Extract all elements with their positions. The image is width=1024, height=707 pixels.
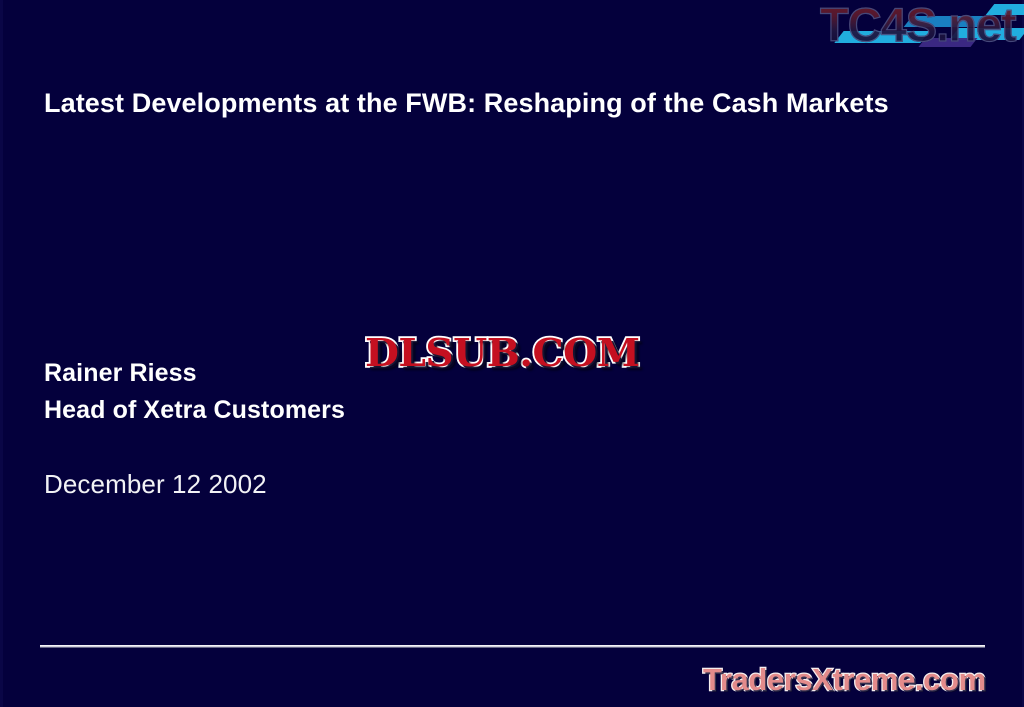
- watermark-tc4s-label: TC4S.net: [820, 0, 1016, 52]
- footer-divider: [40, 645, 985, 648]
- watermark-tradersxtreme: TradersXtreme.com: [703, 662, 986, 698]
- slide-date: December 12 2002: [44, 468, 267, 500]
- presentation-slide: Latest Developments at the FWB: Reshapin…: [0, 0, 1024, 707]
- watermark-tc4s: TC4S.net: [804, 0, 1020, 60]
- slide-title: Latest Developments at the FWB: Reshapin…: [44, 84, 944, 122]
- presenter-role: Head of Xetra Customers: [44, 392, 345, 429]
- watermark-dlsub: DLSUB.COM: [365, 330, 640, 375]
- slide-left-edge: [0, 0, 3, 707]
- presenter-block: Rainer Riess Head of Xetra Customers: [44, 355, 345, 429]
- presenter-name: Rainer Riess: [44, 355, 345, 392]
